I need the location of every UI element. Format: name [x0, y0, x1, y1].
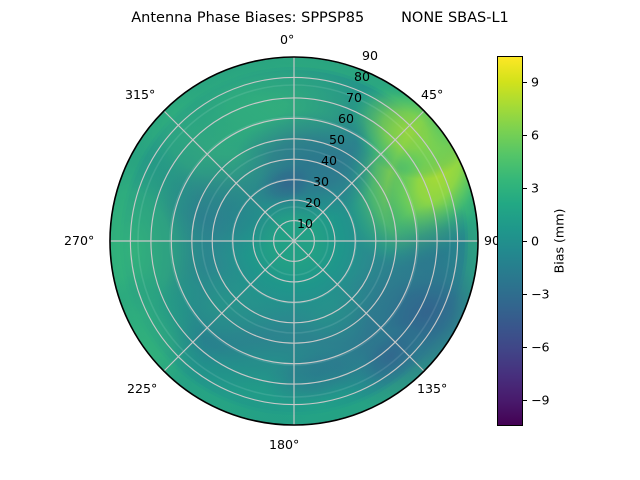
page-title: Antenna Phase Biases: SPPSP85 NONE SBAS-… — [0, 10, 640, 26]
colorbar-tick-label-m3: −3 — [531, 286, 550, 301]
colorbar-tick-mark-9 — [523, 82, 527, 83]
colorbar-tick-label-0: 0 — [531, 234, 539, 249]
colorbar-tick-mark-3 — [523, 188, 527, 189]
radial-tick-20: 20 — [305, 195, 321, 210]
colorbar-tick-mark-m6 — [523, 347, 527, 348]
angular-tick-225: 225° — [127, 381, 157, 396]
colorbar-axis-label: Bias (mm) — [552, 209, 567, 274]
colorbar-tick-label-m9: −9 — [531, 392, 550, 407]
figure-canvas: Antenna Phase Biases: SPPSP85 NONE SBAS-… — [0, 0, 640, 480]
polar-plot-axes[interactable]: 0° 45° 90 135° 180° 225° 270° 315° 10 20… — [109, 56, 479, 426]
polar-grid-spokes — [110, 57, 478, 425]
angular-tick-0: 0° — [280, 32, 294, 47]
angular-tick-45: 45° — [421, 87, 443, 102]
radial-tick-80: 80 — [354, 69, 370, 84]
colorbar[interactable]: 9 6 3 0 −3 −6 −9 — [497, 56, 523, 426]
angular-tick-180: 180° — [269, 437, 299, 452]
radial-tick-90: 90 — [362, 48, 378, 63]
radial-tick-70: 70 — [346, 90, 362, 105]
radial-tick-10: 10 — [297, 216, 313, 231]
radial-tick-50: 50 — [329, 132, 345, 147]
colorbar-tick-mark-m9 — [523, 400, 527, 401]
radial-tick-40: 40 — [321, 153, 337, 168]
colorbar-tick-mark-m3 — [523, 294, 527, 295]
colorbar-tick-mark-0 — [523, 241, 527, 242]
colorbar-tick-label-3: 3 — [531, 181, 539, 196]
radial-tick-30: 30 — [313, 174, 329, 189]
colorbar-tick-label-m6: −6 — [531, 339, 550, 354]
colorbar-tick-mark-6 — [523, 135, 527, 136]
angular-tick-135: 135° — [417, 381, 447, 396]
colorbar-tick-label-9: 9 — [531, 75, 539, 90]
radial-tick-60: 60 — [338, 111, 354, 126]
colorbar-tick-label-6: 6 — [531, 128, 539, 143]
angular-tick-270: 270° — [64, 233, 94, 248]
colorbar-gradient — [497, 56, 523, 426]
polar-contour-plot — [109, 56, 479, 426]
angular-tick-315: 315° — [125, 87, 155, 102]
